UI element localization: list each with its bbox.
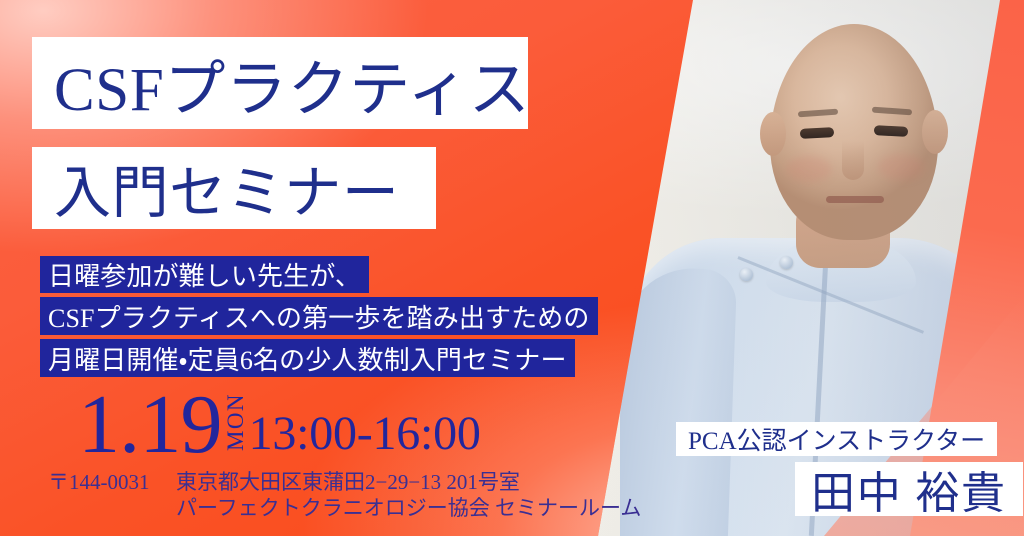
venue-facility: パーフェクトクラニオロジー協会 セミナールーム (176, 492, 641, 522)
title-line-2: 入門セミナー (32, 147, 436, 229)
instructor-name: 田中 裕貴 (795, 462, 1023, 516)
schedule-block: 1.19 MON 13:00-16:00 (78, 384, 481, 462)
title-line-1: CSFプラクティス (32, 37, 528, 129)
event-time-range: 13:00-16:00 (249, 410, 481, 458)
instructor-role: PCA公認インストラクター (676, 422, 997, 456)
lead-line-3: 月曜日開催・定員6名の少人数制入門セミナー (40, 339, 575, 377)
lead-line-2: CSFプラクティスへの第一歩を踏み出すための (40, 297, 598, 335)
event-date: 1.19 (78, 388, 222, 462)
event-day-of-week: MON (224, 386, 247, 458)
venue-postal-code: 〒144-0031 (48, 466, 150, 496)
seminar-flyer: CSFプラクティス 入門セミナー 日曜参加が難しい先生が、 CSFプラクティスへ… (0, 0, 1024, 536)
lead-line-1: 日曜参加が難しい先生が、 (40, 256, 369, 293)
